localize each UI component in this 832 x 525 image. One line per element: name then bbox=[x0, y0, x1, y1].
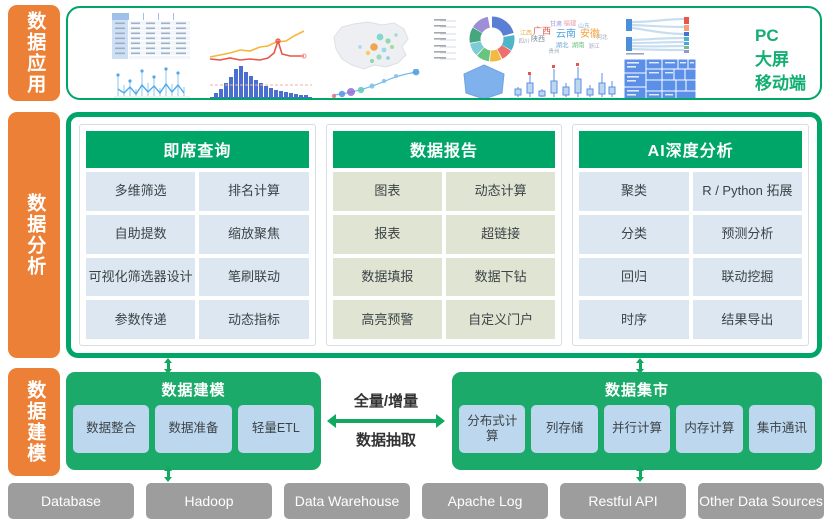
source-item-other-data-sources[interactable]: Other Data Sources bbox=[698, 483, 824, 519]
svg-text:甘肃: 甘肃 bbox=[550, 20, 562, 28]
card-title-ad-hoc-query: 即席查询 bbox=[86, 131, 309, 168]
tile-item[interactable]: 聚类 bbox=[579, 172, 688, 211]
tile-item[interactable]: 联动挖掘 bbox=[693, 258, 802, 297]
svg-text:湖南: 湖南 bbox=[572, 40, 586, 49]
svg-text:浙江: 浙江 bbox=[588, 42, 600, 50]
device-pc: PC bbox=[755, 24, 806, 48]
tile-grid-data-report: 图表 动态计算 报表 超链接 数据填报 数据下钻 高亮预警 自定义门户 bbox=[333, 172, 556, 339]
device-large-screen: 大屏 bbox=[755, 48, 806, 72]
data-modeling-tiles: 数据整合 数据准备 轻量ETL bbox=[73, 405, 314, 453]
application-panel: 广西 云南 安徽 陕西 湖北 湖南 甘肃 福建 山东 江西 贵州 河北 四川 浙… bbox=[66, 6, 822, 100]
tile-item[interactable]: 分类 bbox=[579, 215, 688, 254]
source-item-data-warehouse[interactable]: Data Warehouse bbox=[284, 483, 410, 519]
tile-item[interactable]: 回归 bbox=[579, 258, 688, 297]
svg-text:山东: 山东 bbox=[578, 22, 590, 30]
source-item-database[interactable]: Database bbox=[8, 483, 134, 519]
tile-item[interactable]: 预测分析 bbox=[693, 215, 802, 254]
card-title-ai-deep-analysis: AI深度分析 bbox=[579, 131, 802, 168]
connector-arrow-sources-right bbox=[636, 466, 645, 482]
treemap-thumbnail bbox=[624, 59, 696, 100]
modeling-tile[interactable]: 数据整合 bbox=[73, 405, 149, 453]
svg-text:四川: 四川 bbox=[518, 38, 529, 45]
mart-tile[interactable]: 内存计算 bbox=[676, 405, 742, 453]
rail-item-data-analysis[interactable]: 数据分析 bbox=[8, 112, 60, 358]
device-mobile: 移动端 bbox=[755, 72, 806, 96]
mart-tile[interactable]: 集市通讯 bbox=[749, 405, 815, 453]
tile-item[interactable]: 数据下钻 bbox=[446, 258, 555, 297]
tile-item[interactable]: 高亮预警 bbox=[333, 300, 442, 339]
data-modeling-box: 数据建模 数据整合 数据准备 轻量ETL bbox=[66, 372, 321, 470]
mart-tile[interactable]: 并行计算 bbox=[604, 405, 670, 453]
data-mart-tiles: 分布式计算 列存储 并行计算 内存计算 集市通讯 bbox=[459, 405, 815, 453]
tile-grid-ad-hoc-query: 多维筛选 排名计算 自助提数 缩放聚焦 可视化筛选器设计 笔刷联动 参数传递 动… bbox=[86, 172, 309, 339]
svg-text:河北: 河北 bbox=[596, 33, 608, 41]
word-cloud-thumbnail: 广西 云南 安徽 陕西 湖北 湖南 甘肃 福建 山东 江西 贵州 河北 四川 浙… bbox=[512, 17, 612, 61]
diagram-canvas: 数据应用 数据分析 数据建模 bbox=[0, 0, 832, 525]
tile-item[interactable]: 自定义门户 bbox=[446, 300, 555, 339]
tile-item[interactable]: 超链接 bbox=[446, 215, 555, 254]
tile-item[interactable]: 多维筛选 bbox=[86, 172, 195, 211]
tile-item[interactable]: 缩放聚焦 bbox=[199, 215, 308, 254]
multi-line-chart-thumbnail bbox=[208, 29, 308, 63]
tile-item[interactable]: 自助提数 bbox=[86, 215, 195, 254]
tile-item[interactable]: 报表 bbox=[333, 215, 442, 254]
tile-item[interactable]: 动态计算 bbox=[446, 172, 555, 211]
box-plot-thumbnail bbox=[510, 59, 618, 100]
tile-grid-ai-deep-analysis: 聚类 R / Python 拓展 分类 预测分析 回归 联动挖掘 时序 结果导出 bbox=[579, 172, 802, 339]
tile-item[interactable]: 参数传递 bbox=[86, 300, 195, 339]
tile-item[interactable]: 排名计算 bbox=[199, 172, 308, 211]
line-chart-thumbnail bbox=[114, 63, 190, 99]
rail-item-data-application[interactable]: 数据应用 bbox=[8, 5, 60, 101]
card-ai-deep-analysis: AI深度分析 聚类 R / Python 拓展 分类 预测分析 回归 联动挖掘 … bbox=[572, 124, 809, 346]
rail-label-data-modeling: 数据建模 bbox=[24, 380, 45, 464]
mart-tile[interactable]: 分布式计算 bbox=[459, 405, 525, 453]
rail-item-data-modeling[interactable]: 数据建模 bbox=[8, 368, 60, 476]
modeling-tile[interactable]: 数据准备 bbox=[155, 405, 231, 453]
tile-item[interactable]: 数据填报 bbox=[333, 258, 442, 297]
sankey-chart-thumbnail bbox=[624, 15, 696, 57]
device-list: PC 大屏 移动端 bbox=[755, 24, 806, 96]
data-source-bar: Database Hadoop Data Warehouse Apache Lo… bbox=[8, 483, 824, 519]
svg-text:云南: 云南 bbox=[556, 27, 576, 40]
rail-label-data-application: 数据应用 bbox=[24, 11, 45, 95]
thumbnail-gallery: 广西 云南 安徽 陕西 湖北 湖南 甘肃 福建 山东 江西 贵州 河北 四川 浙… bbox=[112, 11, 682, 99]
connector-arrow-sources-left bbox=[164, 466, 173, 482]
source-item-apache-log[interactable]: Apache Log bbox=[422, 483, 548, 519]
data-mart-box: 数据集市 分布式计算 列存储 并行计算 内存计算 集市通讯 bbox=[452, 372, 822, 470]
data-mart-title: 数据集市 bbox=[459, 377, 815, 405]
tile-item[interactable]: 时序 bbox=[579, 300, 688, 339]
tile-item[interactable]: 动态指标 bbox=[199, 300, 308, 339]
svg-text:贵州: 贵州 bbox=[548, 47, 559, 55]
histogram-thumbnail bbox=[210, 63, 312, 99]
tile-item[interactable]: 结果导出 bbox=[693, 300, 802, 339]
etl-bottom-label: 数据抽取 bbox=[356, 433, 416, 448]
etl-connector: 全量/增量 数据抽取 bbox=[325, 372, 447, 470]
modeling-tile[interactable]: 轻量ETL bbox=[238, 405, 314, 453]
tile-item[interactable]: 图表 bbox=[333, 172, 442, 211]
svg-text:福建: 福建 bbox=[564, 18, 578, 27]
svg-text:湖北: 湖北 bbox=[556, 40, 570, 49]
card-ad-hoc-query: 即席查询 多维筛选 排名计算 自助提数 缩放聚焦 可视化筛选器设计 笔刷联动 参… bbox=[79, 124, 316, 346]
card-title-data-report: 数据报告 bbox=[333, 131, 556, 168]
etl-top-label: 全量/增量 bbox=[354, 394, 418, 409]
tile-item[interactable]: 可视化筛选器设计 bbox=[86, 258, 195, 297]
radar-chart-thumbnail bbox=[458, 63, 510, 100]
tile-item[interactable]: R / Python 拓展 bbox=[693, 172, 802, 211]
china-map-thumbnail bbox=[324, 17, 416, 73]
data-modeling-title: 数据建模 bbox=[73, 377, 314, 405]
tile-item[interactable]: 笔刷联动 bbox=[199, 258, 308, 297]
analysis-card-list: 即席查询 多维筛选 排名计算 自助提数 缩放聚焦 可视化筛选器设计 笔刷联动 参… bbox=[79, 124, 809, 346]
bubble-chart-thumbnail bbox=[328, 69, 422, 99]
analysis-section: 即席查询 多维筛选 排名计算 自助提数 缩放聚焦 可视化筛选器设计 笔刷联动 参… bbox=[66, 112, 822, 358]
svg-text:江西: 江西 bbox=[520, 30, 532, 37]
svg-text:陕西: 陕西 bbox=[531, 34, 545, 43]
rail-label-data-analysis: 数据分析 bbox=[24, 193, 45, 277]
card-data-report: 数据报告 图表 动态计算 报表 超链接 数据填报 数据下钻 高亮预警 自定义门户 bbox=[326, 124, 563, 346]
source-item-restful-api[interactable]: Restful API bbox=[560, 483, 686, 519]
source-item-hadoop[interactable]: Hadoop bbox=[146, 483, 272, 519]
mart-tile[interactable]: 列存储 bbox=[531, 405, 597, 453]
table-thumbnail bbox=[112, 13, 190, 59]
etl-double-arrow-icon bbox=[327, 414, 445, 428]
